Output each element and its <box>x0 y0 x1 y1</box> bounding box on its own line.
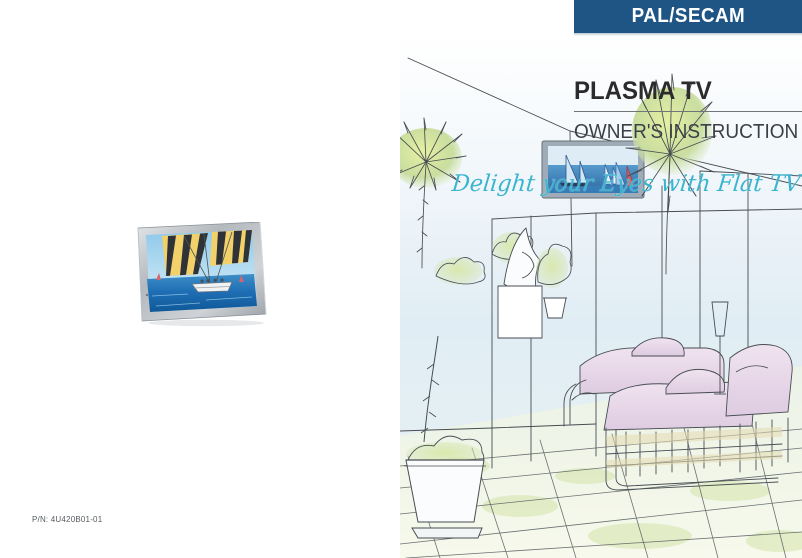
plasma-tv-product-photo <box>136 222 270 328</box>
banner-label: PAL/SECAM <box>631 5 745 28</box>
plasma-tv-svg <box>136 222 270 328</box>
manual-cover-page: PAL/SECAM <box>0 0 802 558</box>
page-subtitle: OWNER'S INSTRUCTION <box>574 121 791 144</box>
title-divider <box>574 111 802 112</box>
page-title: PLASMA TV <box>574 78 793 104</box>
cover-tagline: Delight your Eyes with Flat TV <box>451 171 784 197</box>
pal-secam-banner: PAL/SECAM <box>574 0 802 33</box>
title-block: PLASMA TV OWNER'S INSTRUCTION <box>574 78 802 144</box>
part-number: P/N: 4U420B01-01 <box>32 515 102 524</box>
